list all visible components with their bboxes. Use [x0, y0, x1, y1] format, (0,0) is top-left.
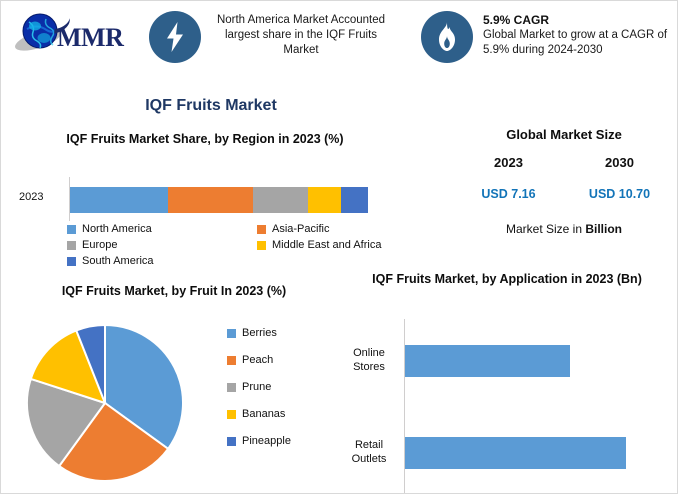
- application-label-online-stores: Online Stores: [337, 347, 401, 375]
- flame-icon: [435, 22, 459, 52]
- pie-legend: Berries Peach Prune Bananas Pineapple: [227, 327, 337, 462]
- legend-item-asia-pacific: Asia-Pacific: [257, 223, 447, 235]
- legend-swatch-europe: [67, 241, 76, 250]
- badge-cagr: 5.9% CAGR Global Market to grow at a CAG…: [421, 11, 676, 63]
- badge-cagr-title: 5.9% CAGR: [483, 13, 673, 27]
- legend-item-bananas: Bananas: [227, 408, 337, 420]
- lightning-bolt-icon: [162, 22, 188, 52]
- legend-item-middle-east-africa: Middle East and Africa: [257, 239, 447, 251]
- legend-item-north-america: North America: [67, 223, 257, 235]
- legend-label-south-america: South America: [82, 255, 154, 267]
- legend-item-prune: Prune: [227, 381, 337, 393]
- badge-north-america: North America Market Accounted largest s…: [149, 11, 399, 63]
- page-title: IQF Fruits Market: [1, 97, 421, 115]
- lightning-bolt-icon-circle: [149, 11, 201, 63]
- region-plot-area: 2023: [11, 177, 451, 223]
- fruit-share-chart: IQF Fruits Market, by Fruit In 2023 (%) …: [9, 283, 339, 494]
- infographic-canvas: MMR North America Market Accounted large…: [0, 0, 678, 494]
- legend-swatch-berries: [227, 329, 236, 338]
- region-legend: North America Asia-Pacific Europe Middle…: [67, 223, 447, 271]
- market-size-footer-prefix: Market Size in: [506, 222, 585, 236]
- region-segment-europe: [253, 187, 308, 213]
- market-size-footer-unit: Billion: [585, 222, 622, 236]
- badge-north-america-text: North America Market Accounted largest s…: [211, 13, 391, 58]
- region-segment-middle-east-africa: [308, 187, 341, 213]
- legend-label-europe: Europe: [82, 239, 117, 251]
- region-segment-north-america: [70, 187, 168, 213]
- legend-label-bananas: Bananas: [242, 408, 285, 420]
- mmr-logo: MMR: [5, 7, 141, 65]
- legend-swatch-asia-pacific: [257, 225, 266, 234]
- market-size-value-left: USD 7.16: [453, 187, 564, 201]
- market-size-years-row: 2023 2030: [453, 155, 675, 170]
- legend-label-asia-pacific: Asia-Pacific: [272, 223, 329, 235]
- market-size-footer: Market Size in Billion: [453, 222, 675, 236]
- region-share-chart: IQF Fruits Market Share, by Region in 20…: [11, 131, 451, 271]
- logo-text: MMR: [57, 23, 123, 53]
- badge-cagr-text: Global Market to grow at a CAGR of 5.9% …: [483, 28, 673, 58]
- legend-swatch-bananas: [227, 410, 236, 419]
- region-segment-south-america: [341, 187, 368, 213]
- legend-swatch-north-america: [67, 225, 76, 234]
- legend-swatch-pineapple: [227, 437, 236, 446]
- legend-label-prune: Prune: [242, 381, 271, 393]
- legend-item-peach: Peach: [227, 354, 337, 366]
- region-segment-asia-pacific: [168, 187, 253, 213]
- legend-item-berries: Berries: [227, 327, 337, 339]
- application-chart-title: IQF Fruits Market, by Application in 202…: [357, 267, 657, 288]
- pie-chart-title: IQF Fruits Market, by Fruit In 2023 (%): [14, 283, 334, 300]
- market-size-values-row: USD 7.16 USD 10.70: [453, 187, 675, 201]
- legend-item-europe: Europe: [67, 239, 257, 251]
- pie-chart-graphic: [21, 321, 189, 485]
- region-category-label: 2023: [19, 191, 43, 203]
- legend-label-peach: Peach: [242, 354, 273, 366]
- market-size-year-right: 2030: [564, 155, 675, 170]
- application-bar-online-stores: [405, 345, 570, 377]
- application-chart: IQF Fruits Market, by Application in 202…: [337, 267, 677, 494]
- market-size-title: Global Market Size: [453, 127, 675, 142]
- application-bar-retail-outlets: [405, 437, 626, 469]
- flame-icon-circle: [421, 11, 473, 63]
- legend-label-north-america: North America: [82, 223, 152, 235]
- application-row-retail-outlets: Retail Outlets: [337, 437, 677, 469]
- legend-swatch-prune: [227, 383, 236, 392]
- region-stacked-bar: [70, 187, 368, 213]
- pie-plot-area: Berries Peach Prune Bananas Pineapple: [9, 319, 339, 489]
- legend-label-pineapple: Pineapple: [242, 435, 291, 447]
- region-chart-title: IQF Fruits Market Share, by Region in 20…: [25, 131, 385, 148]
- application-plot-area: Online Stores Retail Outlets: [337, 319, 677, 494]
- legend-label-berries: Berries: [242, 327, 277, 339]
- legend-label-middle-east-africa: Middle East and Africa: [272, 239, 381, 251]
- global-market-size-panel: Global Market Size 2023 2030 USD 7.16 US…: [453, 127, 675, 236]
- legend-swatch-south-america: [67, 257, 76, 266]
- market-size-year-left: 2023: [453, 155, 564, 170]
- market-size-value-right: USD 10.70: [564, 187, 675, 201]
- legend-swatch-middle-east-africa: [257, 241, 266, 250]
- application-row-online-stores: Online Stores: [337, 345, 677, 377]
- legend-item-pineapple: Pineapple: [227, 435, 337, 447]
- legend-swatch-peach: [227, 356, 236, 365]
- application-label-retail-outlets: Retail Outlets: [337, 439, 401, 467]
- legend-item-south-america: South America: [67, 255, 257, 267]
